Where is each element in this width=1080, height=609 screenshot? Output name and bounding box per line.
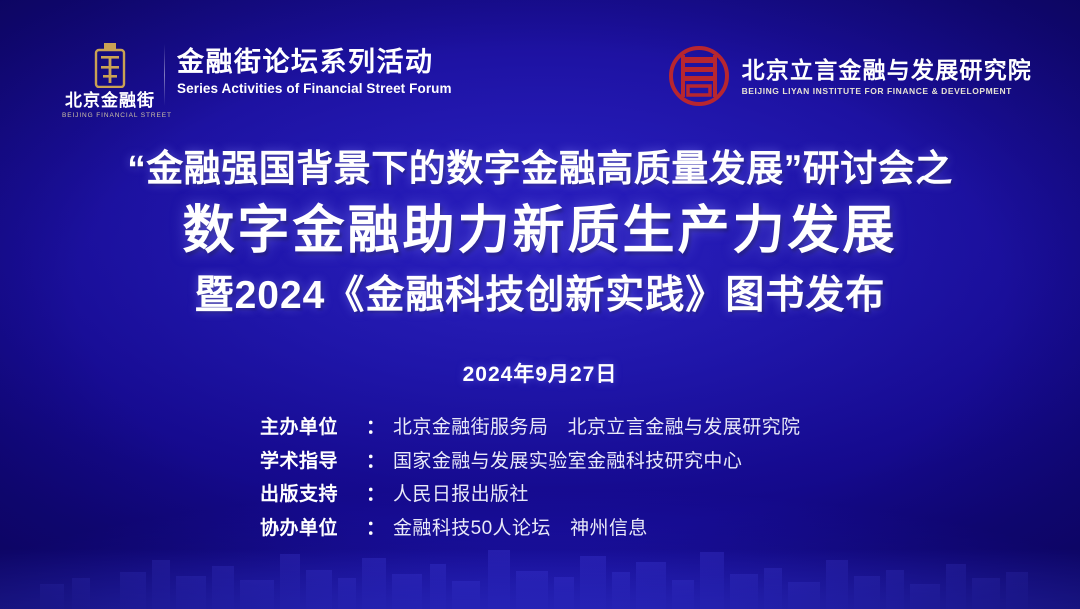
- credit-value: 金融科技50人论坛 神州信息: [393, 516, 648, 542]
- credit-label: 学术指导: [260, 449, 366, 475]
- poster-subtitle-top: “金融强国背景下的数字金融高质量发展”研讨会之: [0, 146, 1080, 192]
- logo-divider: [164, 44, 165, 106]
- credit-row: 主办单位 ： 北京金融街服务局 北京立言金融与发展研究院: [260, 415, 820, 441]
- credit-colon: ：: [366, 516, 385, 542]
- credit-colon: ：: [366, 415, 385, 441]
- credit-colon: ：: [366, 449, 385, 475]
- bfs-name-en: BEIJING FINANCIAL STREET: [62, 112, 158, 119]
- liyan-text-block: 北京立言金融与发展研究院 BEIJING LIYAN INSTITUTE FOR…: [742, 56, 1032, 96]
- poster-titles: “金融强国背景下的数字金融高质量发展”研讨会之 数字金融助力新质生产力发展 暨2…: [0, 146, 1080, 319]
- event-date: 2024年9月27日: [0, 358, 1080, 388]
- liyan-name-en: BEIJING LIYAN INSTITUTE FOR FINANCE & DE…: [742, 86, 1032, 96]
- credit-colon: ：: [366, 482, 385, 508]
- credit-label: 协办单位: [260, 516, 366, 542]
- credit-label: 主办单位: [260, 415, 366, 441]
- bfs-name-cn: 北京金融街: [62, 92, 158, 110]
- credit-value: 国家金融与发展实验室金融科技研究中心: [393, 449, 742, 475]
- credit-row: 学术指导 ： 国家金融与发展实验室金融科技研究中心: [260, 449, 820, 475]
- liyan-name-cn: 北京立言金融与发展研究院: [742, 58, 1032, 83]
- credit-row: 协办单位 ： 金融科技50人论坛 神州信息: [260, 516, 820, 542]
- bfs-mark: 北京金融街 BEIJING FINANCIAL STREET: [62, 40, 158, 119]
- credit-value: 人民日报出版社: [393, 482, 529, 508]
- poster-subtitle-bottom: 暨2024《金融科技创新实践》图书发布: [0, 273, 1080, 320]
- credit-label: 出版支持: [260, 482, 366, 508]
- event-poster: 北京金融街 BEIJING FINANCIAL STREET 金融街论坛系列活动…: [0, 0, 1080, 609]
- credit-row: 出版支持 ： 人民日报出版社: [260, 482, 820, 508]
- poster-header: 北京金融街 BEIJING FINANCIAL STREET 金融街论坛系列活动…: [0, 0, 1080, 130]
- poster-main-title: 数字金融助力新质生产力发展: [0, 200, 1080, 262]
- credits-block: 主办单位 ： 北京金融街服务局 北京立言金融与发展研究院 学术指导 ： 国家金融…: [0, 415, 1080, 550]
- liyan-round-seal-icon: [668, 45, 730, 107]
- bfs-seal-icon: [92, 42, 128, 88]
- beijing-financial-street-logo: 北京金融街 BEIJING FINANCIAL STREET 金融街论坛系列活动…: [62, 40, 452, 119]
- forum-title-block: 金融街论坛系列活动 Series Activities of Financial…: [177, 40, 452, 96]
- skyline-glow: [0, 549, 1080, 609]
- forum-title-en: Series Activities of Financial Street Fo…: [177, 81, 452, 96]
- credit-value: 北京金融街服务局 北京立言金融与发展研究院: [393, 415, 800, 441]
- liyan-institute-logo: 北京立言金融与发展研究院 BEIJING LIYAN INSTITUTE FOR…: [668, 45, 1032, 107]
- forum-title-cn: 金融街论坛系列活动: [177, 48, 452, 78]
